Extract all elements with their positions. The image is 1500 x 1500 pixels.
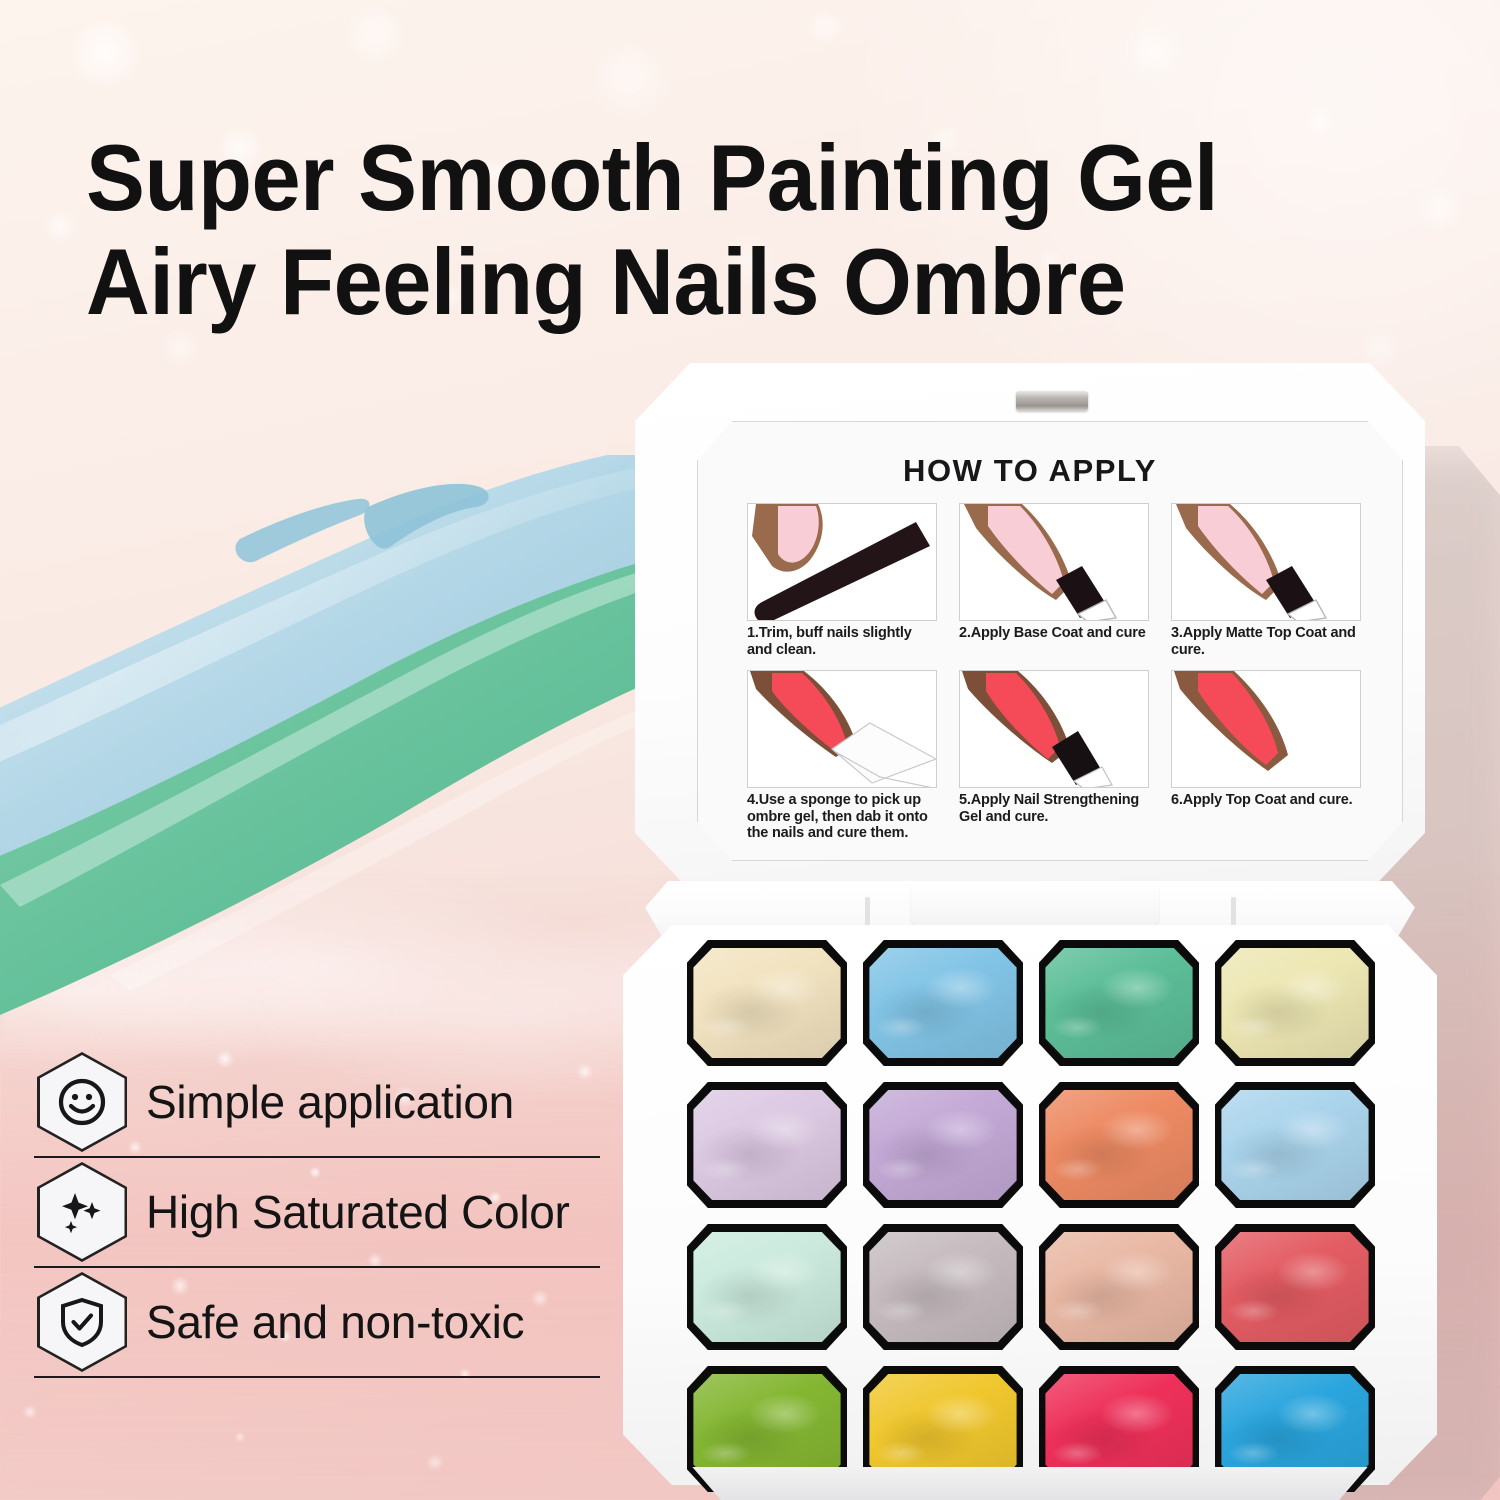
step-5-illustration	[959, 670, 1149, 788]
feature-divider-3	[34, 1376, 600, 1378]
sparkles-icon	[55, 1185, 109, 1239]
strengthening-gel-illustration	[960, 671, 1149, 788]
step-6-illustration	[1171, 670, 1361, 788]
gel-swatch	[869, 1090, 1016, 1201]
color-well-sky-blue[interactable]	[863, 940, 1023, 1066]
gel-swatch	[869, 1232, 1016, 1343]
instruction-steps-row-1: 1.Trim, buff nails slightly and clean. 2…	[747, 503, 1362, 658]
case-hinge-notch-right	[1231, 897, 1236, 927]
top-coat-illustration	[1172, 671, 1361, 788]
feature-icon-wrap	[34, 1160, 130, 1264]
case-lid: HOW TO APPLY 1.Trim, buff nails slightly…	[635, 363, 1425, 891]
page-title: Super Smooth Painting Gel Airy Feeling N…	[86, 126, 1218, 334]
instruction-steps-row-2: 4.Use a sponge to pick up ombre gel, the…	[747, 670, 1362, 842]
instruction-step-6: 6.Apply Top Coat and cure.	[1171, 670, 1361, 842]
case-hinge-tab	[910, 885, 1160, 927]
title-line-1: Super Smooth Painting Gel	[86, 126, 1218, 230]
product-case: HOW TO APPLY 1.Trim, buff nails slightly…	[615, 345, 1445, 1500]
feature-label: High Saturated Color	[146, 1185, 570, 1239]
feature-item-high-saturated-color: High Saturated Color	[34, 1158, 600, 1266]
instruction-step-3: 3.Apply Matte Top Coat and cure.	[1171, 503, 1361, 658]
title-line-2: Airy Feeling Nails Ombre	[86, 230, 1218, 334]
color-well-lilac[interactable]	[687, 1082, 847, 1208]
gel-swatch	[869, 948, 1016, 1059]
step-3-illustration	[1171, 503, 1361, 621]
color-well-red-coral[interactable]	[1215, 1224, 1375, 1350]
instruction-step-2: 2.Apply Base Coat and cure	[959, 503, 1149, 658]
color-well-pale-yellow[interactable]	[1215, 940, 1375, 1066]
feature-list: Simple application High Saturated Color	[34, 1048, 600, 1378]
step-caption: 1.Trim, buff nails slightly and clean.	[747, 625, 937, 658]
instruction-step-1: 1.Trim, buff nails slightly and clean.	[747, 503, 937, 658]
color-well-light-purple[interactable]	[863, 1082, 1023, 1208]
case-latch-icon	[1016, 391, 1088, 411]
feature-icon-wrap	[34, 1270, 130, 1374]
case-base-lip	[663, 1467, 1397, 1500]
gel-swatch	[1221, 1090, 1368, 1201]
step-caption: 6.Apply Top Coat and cure.	[1171, 792, 1361, 809]
hex-fill	[40, 1165, 125, 1259]
feature-label: Simple application	[146, 1075, 514, 1129]
feature-item-simple-application: Simple application	[34, 1048, 600, 1156]
hex-frame	[37, 1272, 127, 1372]
hex-frame	[37, 1162, 127, 1262]
sponge-ombre-illustration	[748, 671, 937, 788]
step-caption: 3.Apply Matte Top Coat and cure.	[1171, 625, 1361, 658]
hex-fill	[40, 1055, 125, 1149]
gel-swatch	[1045, 948, 1192, 1059]
smiley-face-icon	[56, 1076, 108, 1128]
gel-swatch	[1221, 1232, 1368, 1343]
step-4-illustration	[747, 670, 937, 788]
color-well-cream[interactable]	[687, 940, 847, 1066]
feature-item-safe-non-toxic: Safe and non-toxic	[34, 1268, 600, 1376]
hex-fill	[40, 1275, 125, 1369]
matte-top-coat-illustration	[1172, 504, 1361, 621]
gel-swatch	[1221, 948, 1368, 1059]
color-well-jade-green[interactable]	[1039, 940, 1199, 1066]
step-caption: 4.Use a sponge to pick up ombre gel, the…	[747, 792, 937, 842]
base-coat-illustration	[960, 504, 1149, 621]
case-hinge-notch-left	[865, 897, 870, 927]
gel-swatch	[693, 1090, 840, 1201]
color-well-baby-blue[interactable]	[1215, 1082, 1375, 1208]
step-1-illustration	[747, 503, 937, 621]
shield-check-icon	[57, 1295, 107, 1349]
nail-file-illustration	[748, 504, 937, 621]
step-2-illustration	[959, 503, 1149, 621]
instruction-steps: 1.Trim, buff nails slightly and clean. 2…	[747, 503, 1362, 854]
how-to-apply-heading: HOW TO APPLY	[635, 453, 1425, 489]
hex-frame	[37, 1052, 127, 1152]
gel-swatch	[693, 948, 840, 1059]
color-well-warm-grey[interactable]	[863, 1224, 1023, 1350]
step-caption: 5.Apply Nail Strengthening Gel and cure.	[959, 792, 1149, 825]
gel-swatch	[1045, 1090, 1192, 1201]
instruction-step-5: 5.Apply Nail Strengthening Gel and cure.	[959, 670, 1149, 842]
feature-label: Safe and non-toxic	[146, 1295, 524, 1349]
color-well-coral-orange[interactable]	[1039, 1082, 1199, 1208]
gel-swatch	[693, 1232, 840, 1343]
step-caption: 2.Apply Base Coat and cure	[959, 625, 1149, 642]
instruction-step-4: 4.Use a sponge to pick up ombre gel, the…	[747, 670, 937, 842]
feature-icon-wrap	[34, 1050, 130, 1154]
color-palette-grid	[687, 940, 1375, 1492]
gel-swoosh-illustration	[0, 455, 700, 1015]
gel-swatch	[1045, 1232, 1192, 1343]
color-well-mint[interactable]	[687, 1224, 847, 1350]
color-well-peach[interactable]	[1039, 1224, 1199, 1350]
